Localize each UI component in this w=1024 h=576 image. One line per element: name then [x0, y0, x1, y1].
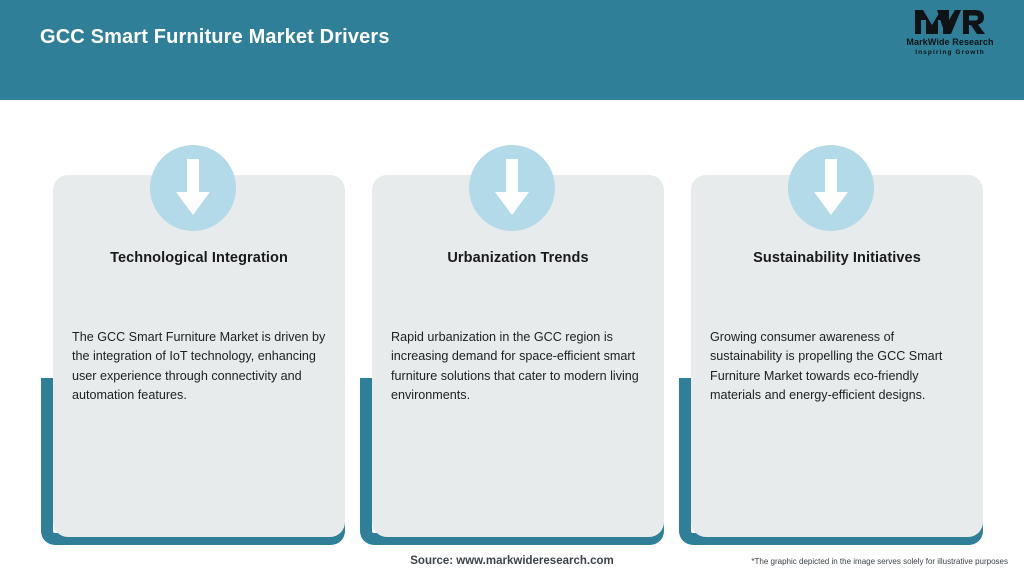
- card-body-text: The GCC Smart Furniture Market is driven…: [72, 328, 330, 405]
- logo-tagline: Inspiring Growth: [898, 48, 1002, 57]
- driver-card-1[interactable]: Technological Integration The GCC Smart …: [41, 100, 349, 550]
- down-arrow-icon: [788, 145, 874, 231]
- brand-logo: MarkWide Research Inspiring Growth: [898, 8, 1002, 64]
- logo-company-name: MarkWide Research: [898, 37, 1002, 48]
- driver-card-3[interactable]: Sustainability Initiatives Growing consu…: [679, 100, 987, 550]
- slide-root: GCC Smart Furniture Market Drivers MarkW…: [0, 0, 1024, 576]
- card-heading: Technological Integration: [53, 250, 345, 266]
- drivers-card-row: Technological Integration The GCC Smart …: [0, 100, 1024, 550]
- down-arrow-icon: [469, 145, 555, 231]
- driver-card-2[interactable]: Urbanization Trends Rapid urbanization i…: [360, 100, 668, 550]
- page-title: GCC Smart Furniture Market Drivers: [40, 26, 390, 49]
- down-arrow-icon: [150, 145, 236, 231]
- header-bar: GCC Smart Furniture Market Drivers MarkW…: [0, 0, 1024, 100]
- footer: Source: www.markwideresearch.com *The gr…: [0, 550, 1024, 576]
- card-heading: Sustainability Initiatives: [691, 250, 983, 266]
- card-heading: Urbanization Trends: [372, 250, 664, 266]
- logo-monogram-icon: [898, 8, 1002, 36]
- card-body-text: Rapid urbanization in the GCC region is …: [391, 328, 649, 405]
- card-body-text: Growing consumer awareness of sustainabi…: [710, 328, 968, 405]
- disclaimer-label: *The graphic depicted in the image serve…: [751, 557, 1008, 566]
